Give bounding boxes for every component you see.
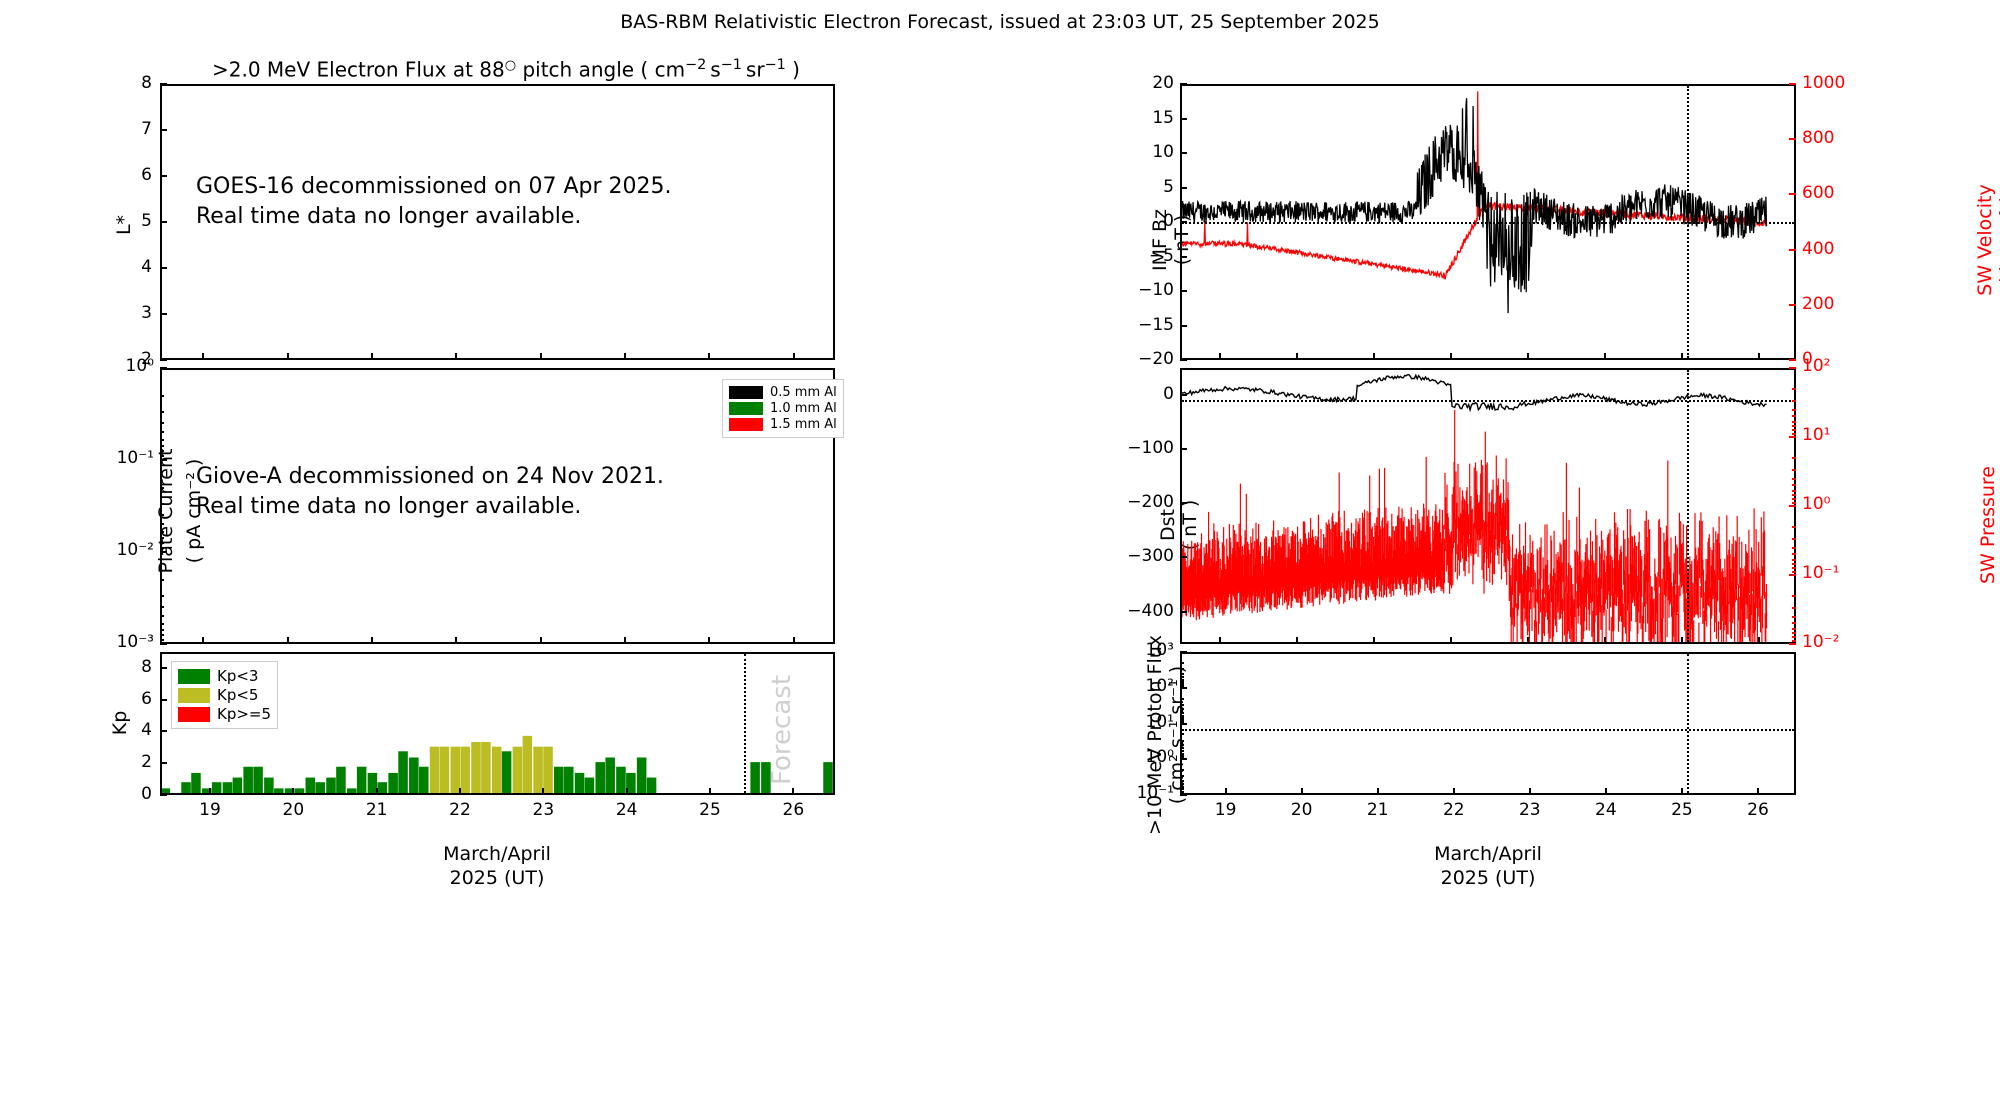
axis-tick [1792,616,1796,618]
sw-velocity-ytick-label: 600 [1802,183,1860,203]
axis-tick [160,503,164,505]
axis-tick [1757,788,1759,795]
flux-panel-title: >2.0 MeV Electron Flux at 88○ pitch angl… [212,57,800,82]
axis-tick [1180,685,1184,687]
axis-tick [1180,448,1187,450]
axis-tick [1789,83,1796,85]
axis-tick [160,313,167,315]
axis-tick [1792,628,1796,630]
axis-tick [1792,559,1796,561]
axis-tick [624,637,626,644]
kp-bar [253,767,263,793]
kp-bar [595,762,605,793]
axis-tick [1792,607,1796,609]
axis-tick [160,794,167,796]
kp-xtick-label: 22 [438,800,482,820]
axis-tick [160,615,164,617]
proton-xtick-label: 26 [1736,800,1780,820]
axis-tick [1792,484,1796,486]
axis-tick [542,788,544,795]
axis-tick [1296,637,1298,644]
dst-ytick-label: −400 [1100,601,1174,621]
flux-ytick-label: 5 [108,211,152,231]
kp-bar [471,742,481,793]
proton-xtick-label: 19 [1204,800,1248,820]
flux-unavailable-message: GOES-16 decommissioned on 07 Apr 2025. R… [196,172,672,231]
axis-tick [455,637,457,644]
proton-xtick-label: 20 [1280,800,1324,820]
axis-tick [708,637,710,644]
axis-tick [202,637,204,644]
sw-velocity-ytick-label: 200 [1802,294,1860,314]
kp-bar [513,747,523,793]
axis-tick [1219,353,1221,360]
axis-tick [1180,775,1184,777]
kp-bar [326,778,336,793]
axis-tick [1225,788,1227,795]
axis-tick [1792,622,1796,624]
axis-tick [160,395,164,397]
proton-ytick-label: 10³ [1096,640,1174,660]
axis-tick [1604,353,1606,360]
axis-tick [1373,637,1375,644]
kp-bar [533,747,543,793]
axis-tick [376,788,378,795]
kp-bar [460,747,470,793]
kp-ytick-label: 8 [112,657,152,677]
kp-bar [388,773,398,793]
axis-tick [1180,651,1187,653]
kp-bar [585,778,595,793]
dst-ytick-label: −300 [1100,546,1174,566]
axis-tick [1789,304,1796,306]
axis-tick [1792,494,1796,496]
axis-tick [1180,783,1184,785]
bz-ytick-label: 0 [1122,211,1174,231]
kp-bar [575,773,585,793]
legend-item[interactable]: 0.5 mm Al [729,385,837,400]
legend-label: 0.5 mm Al [770,385,837,400]
axis-tick [626,788,628,795]
kp-xtick-label: 26 [771,800,815,820]
kp-xtick-label: 20 [271,800,315,820]
plate-current-legend[interactable]: 0.5 mm Al 1.0 mm Al 1.5 mm Al [722,379,844,438]
axis-tick [1527,353,1529,360]
flux-ytick-label: 3 [108,303,152,323]
axis-tick [1180,744,1184,746]
axis-tick [160,579,164,581]
kp-bar [440,747,450,793]
kp-bar [212,782,222,793]
axis-tick [1180,747,1184,749]
kp-xlabel: March/April 2025 (UT) [347,819,647,890]
axis-tick [160,514,164,516]
kp-bar-chart [162,654,833,793]
axis-tick [1180,708,1184,710]
kp-bar [605,757,615,793]
axis-tick [1792,457,1796,459]
sw-pressure-ytick-label: 10¹ [1802,425,1862,445]
kp-bar [191,773,201,793]
axis-tick [160,531,164,533]
proton-xlabel: March/April 2025 (UT) [1338,819,1638,890]
axis-tick [1792,429,1796,431]
axis-tick [1792,490,1796,492]
plate-ylabel-line1: Plate Current [155,449,177,574]
kp-bar [378,782,388,793]
axis-tick [1789,249,1796,251]
axis-tick [1792,640,1796,642]
axis-tick [371,637,373,644]
axis-tick [1792,502,1796,504]
axis-tick [1301,788,1303,795]
axis-tick [1180,325,1187,327]
axis-tick [160,699,167,701]
imf-bz-trace [1182,98,1767,313]
dst-forecast-divider [1687,370,1689,642]
axis-tick [160,523,164,525]
axis-tick [1792,409,1796,411]
bz-ytick-label: 15 [1122,108,1174,128]
bz-ytick-label: 10 [1122,142,1174,162]
axis-tick [209,788,211,795]
axis-tick [1180,780,1184,782]
axis-tick [1373,353,1375,360]
axis-tick [624,353,626,360]
kp-bar [616,767,626,793]
axis-tick [1180,740,1184,742]
kp-bar [637,757,647,793]
figure-suptitle: BAS-RBM Relativistic Electron Forecast, … [0,11,2000,33]
sw-velocity-trace [1182,91,1767,279]
kp-bar [315,782,325,793]
bz-ytick-label: −20 [1122,349,1174,369]
kp-xtick-label: 25 [688,800,732,820]
axis-tick [1792,547,1796,549]
axis-tick [1180,118,1187,120]
legend-label: 1.5 mm Al [770,417,837,432]
axis-tick [160,83,167,85]
axis-tick [1792,636,1796,638]
axis-tick [709,788,711,795]
axis-tick [1377,788,1379,795]
axis-tick [1180,676,1184,678]
legend-item[interactable]: 1.5 mm Al [729,417,837,432]
axis-tick [160,629,164,631]
axis-tick [1789,436,1796,438]
dst-ytick-label: −100 [1100,438,1174,458]
axis-tick [160,487,164,489]
kp-bar [761,762,771,793]
axis-tick [160,542,164,544]
axis-tick [1789,643,1796,645]
kp-xtick-label: 23 [521,800,565,820]
proton-threshold-line [1182,729,1794,731]
kp-ytick-label: 4 [112,720,152,740]
kp-bar [543,747,553,793]
axis-tick [1180,673,1184,675]
axis-tick [1180,792,1184,794]
kp-bar [523,736,533,793]
axis-tick [1792,433,1796,435]
axis-tick [1792,498,1796,500]
axis-tick [1180,712,1184,714]
kp-bar [419,767,429,793]
axis-tick [1792,425,1796,427]
axis-tick [1792,388,1796,390]
proton-ytick-label: 10² [1096,676,1174,696]
sw-pressure-ytick-label: 10⁰ [1802,494,1862,514]
axis-tick [160,445,164,447]
axis-tick [793,353,795,360]
sw-pressure-ytick-label: 10⁻¹ [1802,563,1862,583]
axis-tick [1789,359,1796,361]
kp-bar [398,751,408,793]
axis-tick [792,788,794,795]
sw-velocity-ytick-label: 800 [1802,128,1860,148]
axis-tick [160,455,164,457]
proton-xtick-label: 21 [1356,800,1400,820]
kp-bar [264,778,274,793]
axis-tick [1527,637,1529,644]
axis-tick [1296,353,1298,360]
axis-tick [1681,637,1683,644]
axis-tick [160,450,164,452]
proton-xtick-label: 23 [1508,800,1552,820]
axis-tick [1789,138,1796,140]
axis-tick [1180,290,1187,292]
kp-xlabel-text: March/April 2025 (UT) [443,843,551,889]
axis-tick [160,359,167,361]
sw-velocity-ylabel-text: SW Velocity ( km s⁻¹ ) [1974,184,2000,295]
axis-tick [1180,721,1184,723]
kp-bar [295,788,305,793]
axis-tick [160,639,164,641]
axis-tick [160,623,164,625]
plate-ytick-label: 10⁻¹ [96,448,154,468]
plate-ytick-label: 10⁰ [96,356,154,376]
proton-xtick-label: 25 [1660,800,1704,820]
axis-tick [1180,187,1187,189]
axis-tick [160,547,164,549]
kp-ytick-label: 2 [112,752,152,772]
axis-tick [160,459,167,461]
kp-bar [481,742,491,793]
kp-ytick-label: 0 [112,784,152,804]
axis-tick [1453,788,1455,795]
dst-ytick-label: −200 [1100,492,1174,512]
axis-tick [1180,769,1184,771]
axis-tick [160,643,167,645]
dst-ytick-label: 0 [1100,384,1174,404]
proton-flux-ylabel: >10 MeV Proton Flux ( cm² s⁻¹ sr⁻¹ ) [1122,575,1188,895]
axis-tick [160,129,167,131]
sw-pressure-ylabel-text: SW Pressure ( nPa ) [1977,466,2000,584]
axis-tick [1792,553,1796,555]
kp-bar [233,778,243,793]
axis-tick [459,788,461,795]
proton-xtick-label: 24 [1584,800,1628,820]
axis-tick [455,353,457,360]
kp-bar [243,767,253,793]
axis-tick [160,551,167,553]
axis-tick [160,175,167,177]
kp-ytick-label: 6 [112,689,152,709]
axis-tick [540,353,542,360]
axis-tick [1450,353,1452,360]
plate-unavailable-message: Giove-A decommissioned on 24 Nov 2021. R… [196,462,664,521]
axis-tick [1792,538,1796,540]
axis-tick [160,730,167,732]
axis-tick [160,595,164,597]
axis-tick [1180,256,1187,258]
axis-tick [1180,704,1184,706]
kp-bar [223,782,233,793]
proton-xtick-label: 22 [1432,800,1476,820]
proton-flux-panel [1180,652,1796,795]
bz-zero-line [1182,222,1794,224]
flux-ytick-label: 4 [108,257,152,277]
axis-tick [1180,668,1184,670]
axis-tick [1180,733,1184,735]
axis-tick [1180,556,1187,558]
kp-bar [336,767,346,793]
axis-tick [1450,637,1452,644]
axis-tick [1529,788,1531,795]
sw-velocity-ytick-label: 1000 [1802,73,1860,93]
kp-bar [502,751,512,793]
axis-tick [1180,502,1187,504]
axis-tick [1180,662,1184,664]
dst-trace [1182,375,1767,410]
axis-tick [1180,757,1184,759]
axis-tick [1789,367,1796,369]
axis-tick [371,353,373,360]
plate-current-ylabel: Plate Current [155,411,177,611]
axis-tick [1758,353,1760,360]
bz-ytick-label: 5 [1122,177,1174,197]
axis-tick [1792,400,1796,402]
proton-ytick-label: 10¹ [1096,712,1174,732]
axis-tick [160,439,164,441]
axis-tick [1792,571,1796,573]
kp-bar [750,762,760,793]
axis-tick [1792,469,1796,471]
flux-ytick-label: 8 [108,73,152,93]
axis-tick [1789,505,1796,507]
sw-velocity-ylabel: SW Velocity ( km s⁻¹ ) [1952,130,2000,350]
axis-tick [1681,788,1683,795]
axis-tick [1605,788,1607,795]
axis-tick [708,353,710,360]
kp-bar [450,747,460,793]
kp-bar [430,747,440,793]
flux-ytick-label: 6 [108,165,152,185]
axis-tick [1792,526,1796,528]
kp-bar [162,788,170,793]
axis-tick [160,667,167,669]
bz-ytick-label: −10 [1122,280,1174,300]
sw-velocity-ytick-label: 400 [1802,239,1860,259]
forecast-figure: BAS-RBM Relativistic Electron Forecast, … [0,0,2000,1100]
axis-tick [160,411,164,413]
sw-pressure-ylabel: SW Pressure ( nPa ) [1955,415,2000,635]
axis-tick [793,637,795,644]
axis-tick [1180,698,1184,700]
sw-pressure-ytick-label: 10⁻² [1802,632,1862,652]
axis-tick [287,637,289,644]
dst-zero-line [1182,400,1794,402]
flux-ytick-label: 7 [108,119,152,139]
axis-tick [1180,611,1187,613]
axis-tick [1789,574,1796,576]
plate-ytick-label: 10⁻³ [96,632,154,652]
kp-bar [181,782,191,793]
axis-tick [160,634,164,636]
axis-tick [1180,83,1187,85]
proton-ytick-label: 10⁰ [1096,747,1174,767]
axis-tick [1789,193,1796,195]
axis-tick [292,788,294,795]
dst-timeseries [1182,370,1794,642]
bz-ytick-label: −5 [1122,246,1174,266]
kp-bar [492,747,502,793]
kp-xtick-label: 24 [605,800,649,820]
kp-xtick-label: 19 [188,800,232,820]
bz-ytick-label: −15 [1122,315,1174,335]
legend-item[interactable]: 1.0 mm Al [729,401,837,416]
kp-bar [274,788,284,793]
kp-bar [409,757,419,793]
axis-tick [160,537,164,539]
axis-tick [1792,632,1796,634]
kp-bar [564,767,574,793]
axis-tick [1792,595,1796,597]
axis-tick [1681,353,1683,360]
kp-forecast-divider [744,654,746,793]
axis-tick [1219,637,1221,644]
kp-xtick-label: 21 [355,800,399,820]
legend-swatch-red [729,418,763,431]
legend-label: 1.0 mm Al [770,401,837,416]
axis-tick [1792,563,1796,565]
axis-tick [1180,221,1187,223]
legend-swatch-green [729,402,763,415]
axis-tick [160,431,164,433]
axis-tick [1792,421,1796,423]
axis-tick [1180,394,1187,396]
axis-tick [160,422,164,424]
kp-bar [554,767,564,793]
axis-tick [287,353,289,360]
kp-bar [347,788,357,793]
axis-tick [1604,637,1606,644]
kp-bar [823,762,833,793]
sw-pressure-ytick-label: 10² [1802,356,1862,376]
axis-tick [160,367,167,369]
bz-ytick-label: 20 [1122,73,1174,93]
axis-tick [1792,415,1796,417]
axis-tick [202,353,204,360]
axis-tick [1180,359,1187,361]
axis-tick [1792,478,1796,480]
kp-bar [306,778,316,793]
legend-swatch-black [729,386,763,399]
axis-tick [1792,567,1796,569]
proton-xlabel-text: March/April 2025 (UT) [1434,843,1542,889]
axis-tick [160,267,167,269]
kp-bar [357,767,367,793]
